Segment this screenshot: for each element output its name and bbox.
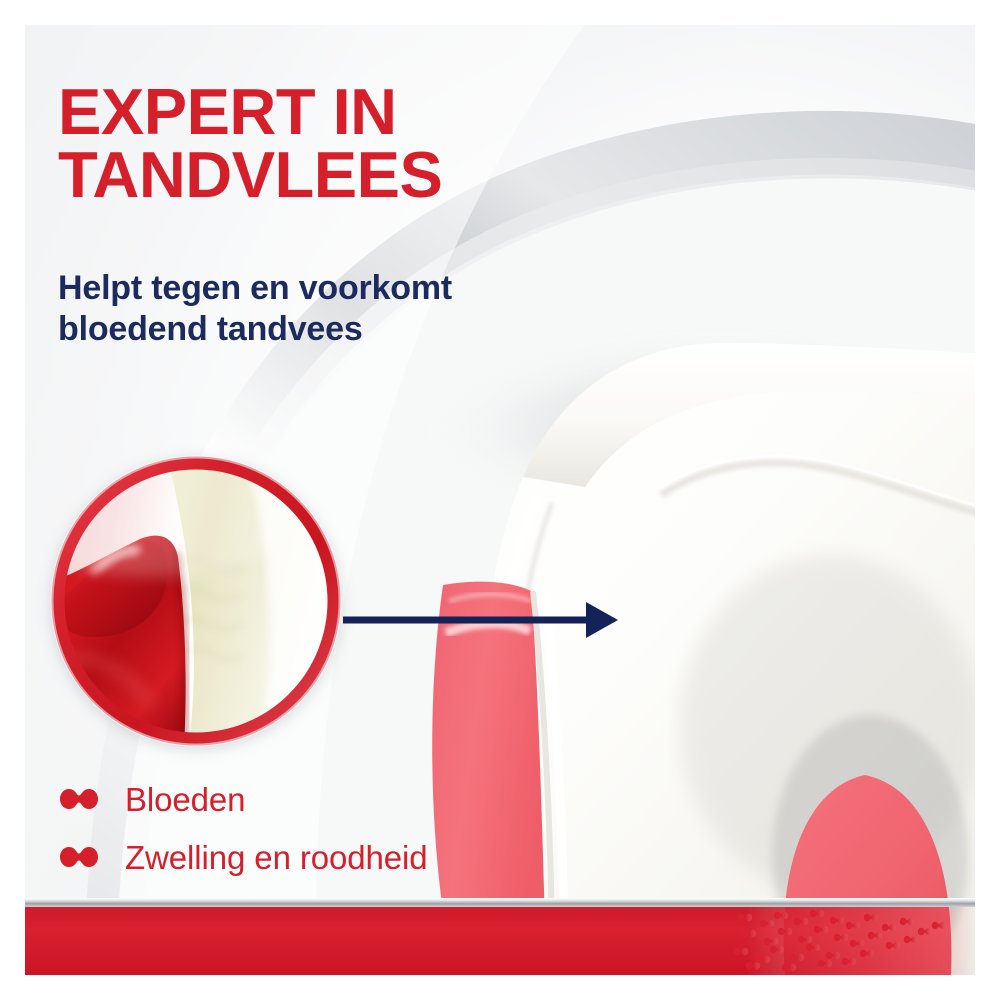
list-item-label: Zwelling en roodheid: [125, 841, 428, 874]
magnifier-circle-icon: [48, 453, 344, 749]
dissolving-peanut-pattern-icon: [25, 907, 975, 975]
peanut-bullet-icon: [58, 845, 100, 869]
artwork-panel: EXPERT IN TANDVLEES Helpt tegen en voork…: [25, 25, 975, 975]
bar-silver-rule: [25, 898, 975, 907]
list-item: Zwelling en roodheid: [58, 828, 618, 886]
list-item-label: Bloeden: [125, 783, 245, 816]
list-item: Bloeden: [58, 770, 618, 828]
bottom-brand-bar: [25, 898, 975, 975]
benefit-list: Bloeden Zwelling en roodheid: [58, 770, 618, 886]
right-arrow-icon: [343, 595, 618, 645]
poster-root: EXPERT IN TANDVLEES Helpt tegen en voork…: [0, 0, 1000, 1000]
page-subtitle: Helpt tegen en voorkomt bloedend tandvee…: [58, 268, 538, 351]
page-title: EXPERT IN TANDVLEES: [58, 80, 578, 206]
peanut-bullet-icon: [58, 787, 100, 811]
